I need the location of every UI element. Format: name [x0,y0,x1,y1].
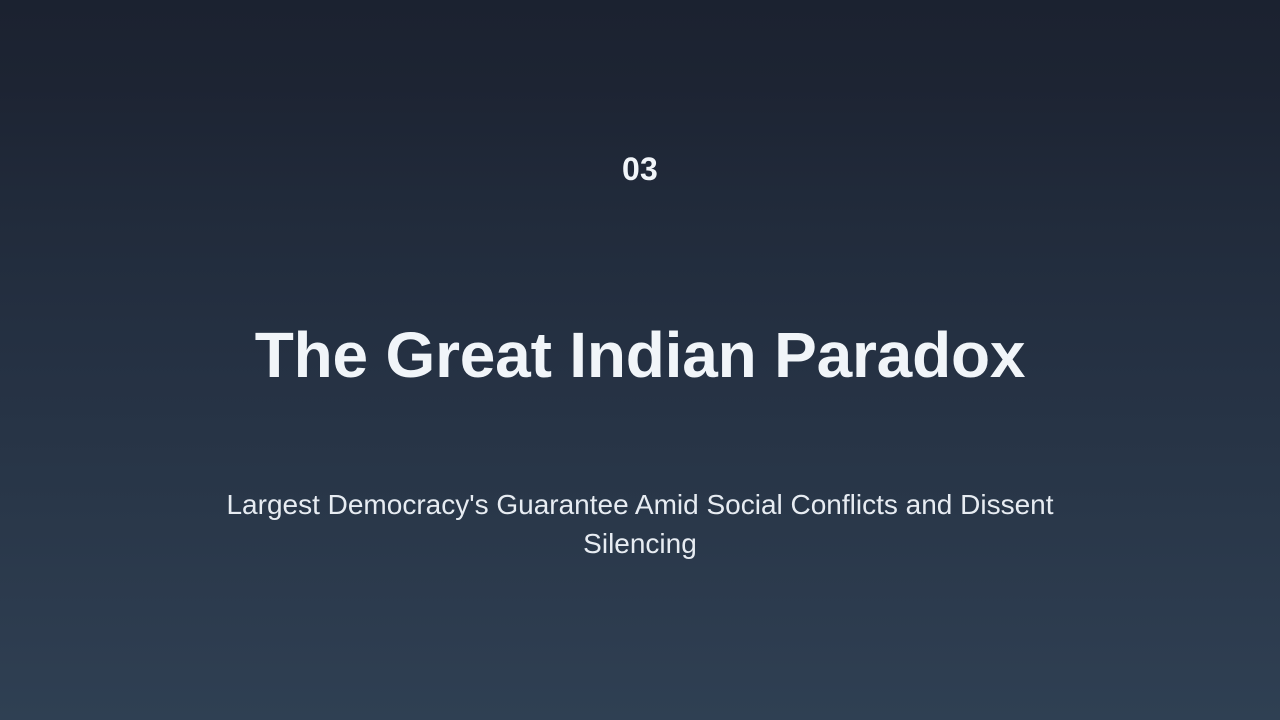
subtitle-block: Largest Democracy's Guarantee Amid Socia… [216,485,1064,563]
title-block: The Great Indian Paradox [90,318,1190,392]
slide-subtitle: Largest Democracy's Guarantee Amid Socia… [216,485,1064,563]
slide-number: 03 [622,148,658,190]
slide-title: The Great Indian Paradox [90,318,1190,392]
slide-root: 03 The Great Indian Paradox Largest Demo… [0,0,1280,720]
